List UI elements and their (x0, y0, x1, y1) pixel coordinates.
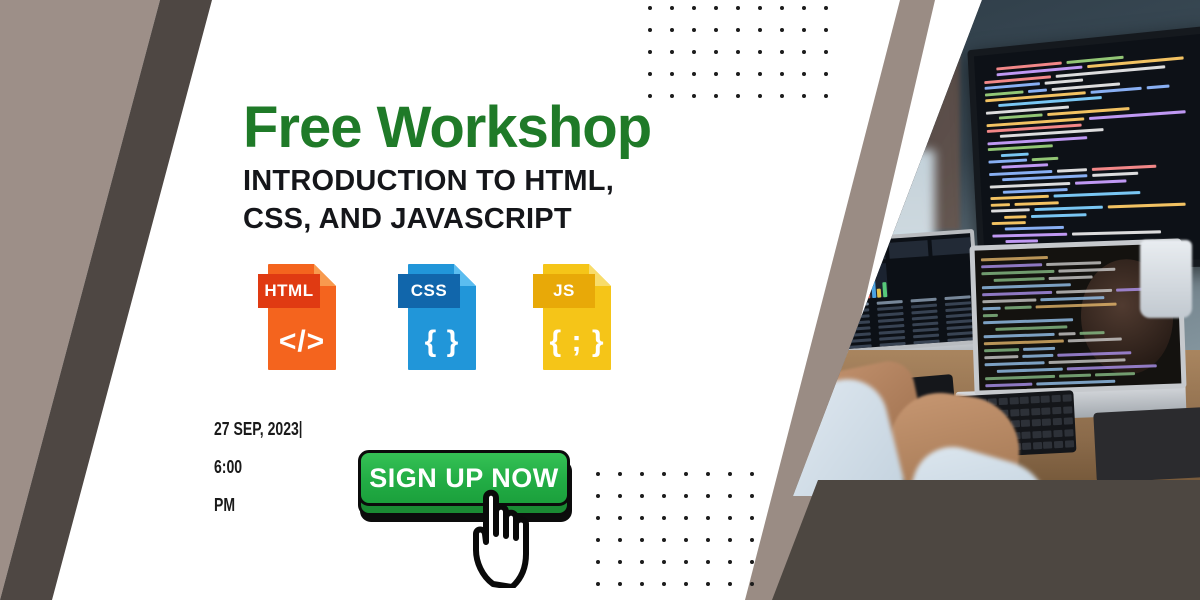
css-file-icon: CSS { } (398, 258, 476, 370)
grid-dot (750, 582, 754, 586)
grid-dot (758, 72, 762, 76)
grid-dot (670, 6, 674, 10)
grid-dot (670, 94, 674, 98)
grid-dot (780, 6, 784, 10)
grid-dot (596, 494, 600, 498)
keyboard-key (1022, 431, 1031, 438)
grid-dot (692, 72, 696, 76)
dashboard-bar (815, 287, 820, 302)
grid-dot (596, 560, 600, 564)
dashboard-bar (870, 276, 876, 298)
keyboard-key (1010, 409, 1019, 416)
grid-dot (618, 582, 622, 586)
dashboard-bar (809, 287, 814, 303)
grid-dot (780, 94, 784, 98)
dashboard-table-cell (913, 340, 939, 345)
code-line-segment (991, 208, 1030, 212)
keyboard-key (1031, 407, 1040, 414)
event-datetime: 27 SEP, 2023 6:00 PM (214, 420, 354, 534)
grid-dot (824, 72, 828, 76)
grid-dot (706, 538, 710, 542)
dashboard-table-cell (877, 306, 903, 311)
dashboard-table-cell (880, 342, 906, 347)
code-line-segment (983, 307, 1001, 310)
code-line-segment (990, 182, 1070, 189)
grid-dot (662, 538, 666, 542)
dashboard-table-cell (947, 337, 973, 342)
code-line-segment (1031, 213, 1087, 218)
grid-dot (662, 516, 666, 520)
grid-dot (670, 72, 674, 76)
grid-dot (802, 28, 806, 32)
keyboard-key (1041, 395, 1050, 402)
grid-dot (736, 28, 740, 32)
grid-dot (640, 494, 644, 498)
grid-dot (758, 50, 762, 54)
page-title: Free Workshop (243, 94, 651, 161)
dot-grid-bottom (596, 472, 776, 597)
grid-dot (684, 582, 688, 586)
grid-dot (824, 94, 828, 98)
keyboard-key (1022, 442, 1031, 449)
text-caret (300, 421, 302, 438)
grid-dot (714, 28, 718, 32)
code-line-segment (1023, 354, 1054, 358)
grid-dot (684, 472, 688, 476)
keyboard-key (1052, 406, 1061, 413)
grid-dot (684, 494, 688, 498)
grid-dot (684, 516, 688, 520)
workshop-poster: Free Workshop INTRODUCTION TO HTML, CSS,… (0, 0, 1200, 600)
keyboard-key (1051, 395, 1060, 402)
keyboard-key (1032, 419, 1041, 426)
code-line-segment (984, 340, 1064, 345)
grid-dot (648, 50, 652, 54)
dashboard-table-cell (879, 330, 905, 335)
grid-dot (640, 516, 644, 520)
keyboard-key (1053, 418, 1062, 425)
grid-dot (662, 582, 666, 586)
grid-dot (728, 516, 732, 520)
grid-dot (750, 560, 754, 564)
keyboard-key (1032, 430, 1041, 437)
dashboard-table-cell (912, 316, 938, 321)
dashboard-table-cell (913, 334, 939, 339)
code-line-segment (1059, 332, 1075, 335)
grid-dot (648, 72, 652, 76)
dashboard-table-cell (945, 301, 971, 306)
grid-dot (736, 94, 740, 98)
grid-dot (648, 28, 652, 32)
keyboard-key (1063, 406, 1072, 413)
grid-dot (662, 472, 666, 476)
code-line-segment (1001, 152, 1029, 157)
code-line-segment (981, 263, 1042, 268)
grid-dot (736, 50, 740, 54)
code-line-segment (1090, 87, 1142, 94)
dashboard-table-cell (911, 304, 937, 309)
code-line-segment (988, 144, 1053, 151)
grid-dot (662, 494, 666, 498)
code-line-segment (1095, 372, 1135, 376)
grid-dot (706, 560, 710, 564)
keyboard-key (1042, 418, 1051, 425)
tech-icons-row: HTML </> CSS { } JS { ; } (258, 258, 618, 376)
keyboard-key (1020, 408, 1029, 415)
code-line-segment (1108, 203, 1186, 209)
grid-dot (684, 538, 688, 542)
grid-dot (648, 6, 652, 10)
code-line-segment (985, 90, 1024, 96)
code-line-segment (1023, 347, 1055, 351)
grid-dot (640, 560, 644, 564)
code-line-segment (985, 361, 1045, 366)
code-line-segment (1001, 164, 1048, 169)
keyboard-key (1053, 429, 1062, 436)
grid-dot (706, 472, 710, 476)
dashboard-table-cell (947, 325, 973, 330)
dashboard-table-cell (944, 295, 970, 300)
grid-dot (728, 582, 732, 586)
code-line-segment (1072, 230, 1161, 235)
keyboard-key (1033, 442, 1042, 449)
js-icon-glyph: { ; } (543, 316, 611, 368)
dashboard-table-cell (877, 300, 903, 305)
code-line-segment (988, 159, 1027, 164)
grid-dot (728, 538, 732, 542)
grid-dot (728, 472, 732, 476)
grid-dot (758, 28, 762, 32)
page-subtitle: INTRODUCTION TO HTML, CSS, AND JAVASCRIP… (243, 162, 683, 239)
dashboard-table-cell (911, 310, 937, 315)
code-line-segment (1003, 188, 1068, 194)
grid-dot (618, 516, 622, 520)
signup-cta[interactable]: SIGN UP NOW (356, 450, 576, 530)
grid-dot (750, 472, 754, 476)
grid-dot (802, 72, 806, 76)
grid-dot (596, 538, 600, 542)
dashboard-bar (877, 289, 882, 298)
grid-dot (714, 72, 718, 76)
code-line-segment (997, 368, 1063, 373)
event-date-line: 27 SEP, 2023 (214, 420, 323, 438)
grid-dot (780, 72, 784, 76)
keyboard-key (1021, 420, 1030, 427)
code-line-segment (984, 75, 1051, 84)
code-line-segment (981, 270, 1054, 275)
code-line-segment (1045, 79, 1083, 85)
code-line-segment (992, 233, 1067, 238)
code-line-segment (1036, 380, 1116, 385)
dashboard-table-cell (878, 318, 904, 323)
grid-dot (618, 538, 622, 542)
keyboard-key (1043, 430, 1052, 437)
keyboard-key (1030, 396, 1039, 403)
code-line-segment (1054, 191, 1140, 198)
code-line-segment (985, 383, 1032, 387)
pointing-hand-cursor-icon (460, 484, 556, 588)
code-line-segment (985, 375, 1055, 380)
grid-dot (640, 472, 644, 476)
code-line-segment (1002, 174, 1087, 181)
keyboard-key (1054, 441, 1063, 448)
keyboard-key (1062, 394, 1071, 401)
grid-dot (824, 50, 828, 54)
grid-dot (684, 560, 688, 564)
code-line-segment (1028, 88, 1047, 92)
grid-dot (670, 50, 674, 54)
html-icon-label: HTML (258, 274, 320, 308)
code-line-segment (982, 298, 1036, 302)
js-file-icon: JS { ; } (533, 258, 611, 370)
dashboard-table-cell (878, 324, 904, 329)
dashboard-table-cell (879, 336, 905, 341)
grid-dot (692, 28, 696, 32)
grid-dot (802, 94, 806, 98)
dashboard-table-cell (911, 298, 937, 303)
grid-dot (596, 516, 600, 520)
grid-dot (758, 94, 762, 98)
grid-dot (824, 6, 828, 10)
css-icon-label: CSS (398, 274, 460, 308)
grid-dot (706, 582, 710, 586)
code-line-segment (1005, 226, 1065, 231)
grid-dot (596, 472, 600, 476)
keyboard-key (999, 398, 1008, 405)
code-line-segment (1075, 179, 1127, 184)
keyboard-key (1064, 440, 1073, 447)
code-line-segment (1004, 215, 1026, 219)
code-line-segment (994, 277, 1045, 281)
dashboard-table-cell (945, 307, 971, 312)
code-line-segment (999, 114, 1043, 120)
dashboard-table-cell (947, 331, 973, 336)
grid-dot (706, 494, 710, 498)
grid-dot (758, 6, 762, 10)
grid-dot (618, 560, 622, 564)
code-line-segment (1147, 85, 1169, 90)
grid-dot (662, 560, 666, 564)
code-line-segment (983, 318, 1073, 324)
grid-dot (714, 94, 718, 98)
code-line-segment (991, 203, 1010, 207)
dashboard-tile (931, 237, 971, 256)
code-line-segment (1092, 172, 1137, 177)
grid-dot (780, 50, 784, 54)
grid-dot (692, 6, 696, 10)
grid-dot (692, 94, 696, 98)
code-line-segment (1035, 206, 1103, 211)
code-line-segment (1046, 261, 1101, 265)
html-file-icon: HTML </> (258, 258, 336, 370)
grid-dot (692, 50, 696, 54)
css-icon-glyph: { } (408, 316, 476, 368)
keyboard-key (1009, 397, 1018, 404)
grid-dot (670, 28, 674, 32)
grid-dot (736, 72, 740, 76)
keyboard-key (1041, 407, 1050, 414)
grid-dot (618, 494, 622, 498)
code-line-segment (1004, 306, 1031, 309)
code-line-segment (990, 195, 1049, 200)
grid-dot (750, 516, 754, 520)
dot-grid-top-right (648, 6, 833, 116)
dashboard-table-cell (877, 312, 903, 317)
grid-dot (750, 494, 754, 498)
grid-dot (780, 28, 784, 32)
grid-dot (618, 472, 622, 476)
keyboard-key (1064, 429, 1073, 436)
keyboard-key (1043, 441, 1052, 448)
photo-cup (1140, 240, 1192, 318)
code-line-segment (981, 256, 1048, 261)
js-icon-label: JS (533, 274, 595, 308)
code-line-segment (984, 348, 1019, 352)
dashboard-bar (882, 282, 887, 297)
grid-dot (706, 516, 710, 520)
dashboard-tile (889, 240, 929, 259)
grid-dot (736, 6, 740, 10)
code-line-segment (992, 221, 1026, 225)
keyboard-key (1020, 397, 1029, 404)
dashboard-table-cell (913, 328, 939, 333)
grid-dot (640, 582, 644, 586)
html-icon-glyph: </> (268, 316, 336, 368)
code-line-segment (1032, 157, 1059, 161)
code-line-segment (1014, 201, 1059, 206)
event-date: 27 SEP, 2023 (214, 419, 299, 439)
code-line-segment (984, 333, 1055, 338)
grid-dot (640, 538, 644, 542)
code-line-segment (1057, 168, 1087, 173)
photo-mousepad (1093, 407, 1200, 483)
grid-dot (824, 28, 828, 32)
grid-dot (728, 494, 732, 498)
code-line-segment (984, 355, 1018, 359)
code-line-segment (1049, 275, 1093, 279)
event-meridiem: PM (214, 496, 323, 514)
photo-code-monitor (967, 25, 1200, 269)
grid-dot (714, 50, 718, 54)
keyboard-key (1063, 417, 1072, 424)
grid-dot (714, 6, 718, 10)
code-line-segment (1059, 374, 1092, 378)
dashboard-table-cell (946, 313, 972, 318)
grid-dot (596, 582, 600, 586)
event-time: 6:00 (214, 458, 323, 476)
code-line-segment (982, 283, 1071, 289)
code-line-segment (989, 170, 1052, 176)
code-line-segment (995, 325, 1067, 330)
grid-dot (802, 50, 806, 54)
grid-dot (728, 560, 732, 564)
code-line-segment (983, 314, 998, 317)
dashboard-table-cell (912, 322, 938, 327)
grid-dot (750, 538, 754, 542)
dashboard-table-cell (946, 319, 972, 324)
grid-dot (802, 6, 806, 10)
code-line-segment (1092, 164, 1156, 170)
code-line-segment (982, 291, 1052, 296)
